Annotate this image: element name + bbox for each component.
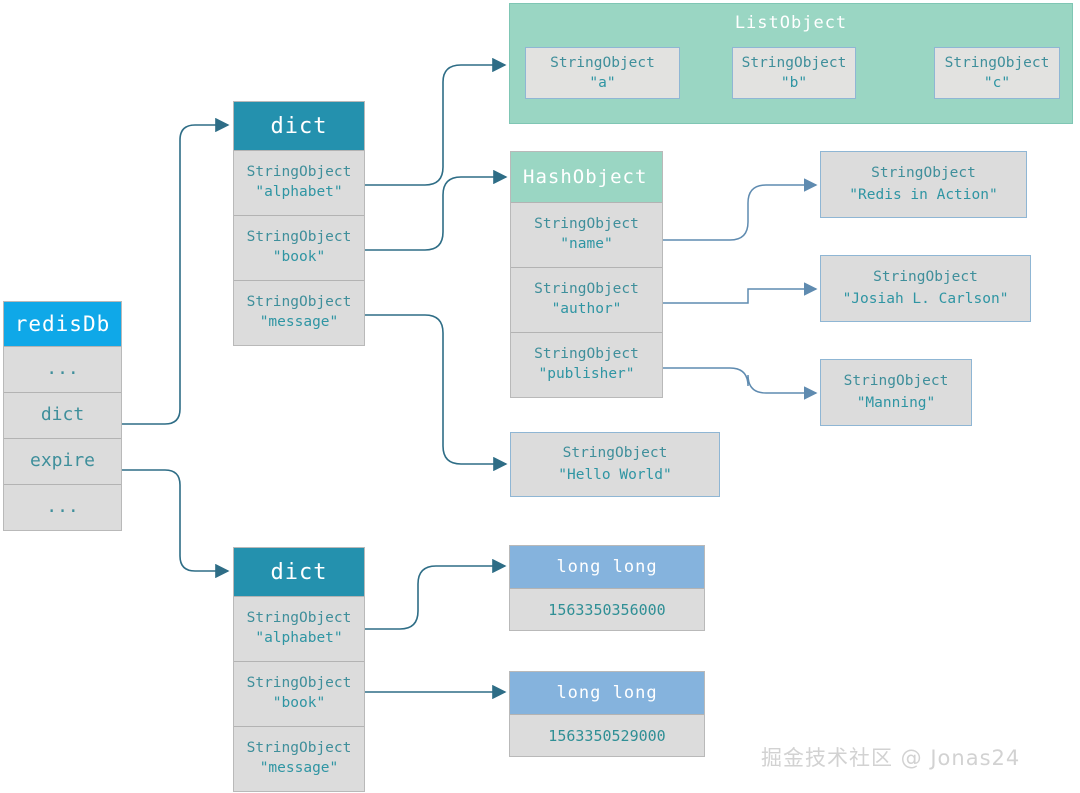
dict-expire-row-message-type: StringObject xyxy=(247,739,352,759)
hashobject-row-author-value: "author" xyxy=(552,300,622,320)
hashobject-row-author[interactable]: StringObject "author" xyxy=(511,267,662,332)
listobject-item-b[interactable]: StringObject "b" xyxy=(732,47,856,99)
dict-main-row-alphabet-type: StringObject xyxy=(247,163,352,183)
hashobject-row-publisher[interactable]: StringObject "publisher" xyxy=(511,332,662,397)
listobject-item-c-value: "c" xyxy=(984,73,1010,93)
redisdb-struct[interactable]: redisDb ... dict expire ... xyxy=(3,301,122,531)
listobject-item-a-type: StringObject xyxy=(550,53,655,73)
dict-main-row-message-value: "message" xyxy=(260,313,339,333)
listobject-item-a[interactable]: StringObject "a" xyxy=(525,47,680,99)
edge-author-person xyxy=(663,289,816,303)
listobject-item-c-type: StringObject xyxy=(945,53,1050,73)
listobject-item-b-value: "b" xyxy=(781,73,807,93)
dict-main-struct[interactable]: dict StringObject "alphabet" StringObjec… xyxy=(233,101,365,346)
dict-expire-row-book-type: StringObject xyxy=(247,674,352,694)
stringobject-book-author-value: "Josiah L. Carlson" xyxy=(843,289,1009,311)
listobject-item-b-type: StringObject xyxy=(742,53,847,73)
hashobject-row-publisher-value: "publisher" xyxy=(538,365,634,385)
listobject-container[interactable]: ListObject StringObject "a" StringObject… xyxy=(509,3,1073,124)
redisdb-row-ellipsis-top[interactable]: ... xyxy=(4,346,121,392)
edge-expire-alphabet-ll1 xyxy=(365,566,505,629)
stringobject-hello-world-type: StringObject xyxy=(563,443,668,465)
redisdb-row-expire[interactable]: expire xyxy=(4,438,121,484)
longlong-box-book-header: long long xyxy=(510,672,704,714)
edge-name-title xyxy=(663,185,816,240)
edge-book-hashobject xyxy=(365,177,506,250)
listobject-title: ListObject xyxy=(510,13,1072,33)
dict-expire-row-message-value: "message" xyxy=(260,759,339,779)
hashobject-row-publisher-type: StringObject xyxy=(534,345,639,365)
stringobject-book-publisher-type: StringObject xyxy=(844,371,949,393)
longlong-box-alphabet-header: long long xyxy=(510,546,704,588)
longlong-box-book[interactable]: long long 1563350529000 xyxy=(509,671,705,757)
dict-expire-struct[interactable]: dict StringObject "alphabet" StringObjec… xyxy=(233,547,365,792)
listobject-item-a-value: "a" xyxy=(589,73,615,93)
dict-expire-row-message[interactable]: StringObject "message" xyxy=(234,726,364,791)
dict-expire-row-alphabet[interactable]: StringObject "alphabet" xyxy=(234,596,364,661)
hashobject-header: HashObject xyxy=(511,152,662,202)
dict-expire-header: dict xyxy=(234,548,364,596)
stringobject-book-title-type: StringObject xyxy=(871,163,976,185)
dict-main-row-alphabet-value: "alphabet" xyxy=(255,183,342,203)
dict-main-row-book-type: StringObject xyxy=(247,228,352,248)
edge-alphabet-listobject xyxy=(365,65,505,185)
diagram-canvas: redisDb ... dict expire ... dict StringO… xyxy=(0,0,1080,793)
longlong-box-book-value: 1563350529000 xyxy=(510,714,704,756)
stringobject-book-publisher[interactable]: StringObject "Manning" xyxy=(820,359,972,426)
redisdb-row-dict[interactable]: dict xyxy=(4,392,121,438)
hashobject-row-name-type: StringObject xyxy=(534,215,639,235)
edge-redisdb-expire xyxy=(122,470,228,571)
dict-expire-row-book[interactable]: StringObject "book" xyxy=(234,661,364,726)
edge-redisdb-dict xyxy=(122,125,228,424)
dict-main-header: dict xyxy=(234,102,364,150)
redisdb-header: redisDb xyxy=(4,302,121,346)
stringobject-book-author-type: StringObject xyxy=(873,267,978,289)
stringobject-book-author[interactable]: StringObject "Josiah L. Carlson" xyxy=(820,255,1031,322)
dict-main-row-book-value: "book" xyxy=(273,248,325,268)
hashobject-row-name-value: "name" xyxy=(560,235,612,255)
dict-main-row-book[interactable]: StringObject "book" xyxy=(234,215,364,280)
stringobject-book-title-value: "Redis in Action" xyxy=(849,185,997,207)
redisdb-row-ellipsis-bottom[interactable]: ... xyxy=(4,484,121,530)
dict-main-row-alphabet[interactable]: StringObject "alphabet" xyxy=(234,150,364,215)
listobject-item-c[interactable]: StringObject "c" xyxy=(934,47,1060,99)
dict-main-row-message-type: StringObject xyxy=(247,293,352,313)
edge-message-hello xyxy=(365,315,506,464)
hashobject-row-name[interactable]: StringObject "name" xyxy=(511,202,662,267)
stringobject-hello-world[interactable]: StringObject "Hello World" xyxy=(510,432,720,497)
watermark-text: 掘金技术社区 @ Jonas24 xyxy=(761,742,1020,772)
dict-expire-row-book-value: "book" xyxy=(273,694,325,714)
dict-expire-row-alphabet-value: "alphabet" xyxy=(255,629,342,649)
hashobject-struct[interactable]: HashObject StringObject "name" StringObj… xyxy=(510,151,663,398)
stringobject-book-publisher-value: "Manning" xyxy=(857,393,936,415)
edge-publisher-manning xyxy=(663,368,816,393)
stringobject-hello-world-value: "Hello World" xyxy=(558,465,672,487)
dict-main-row-message[interactable]: StringObject "message" xyxy=(234,280,364,345)
longlong-box-alphabet[interactable]: long long 1563350356000 xyxy=(509,545,705,631)
hashobject-row-author-type: StringObject xyxy=(534,280,639,300)
dict-expire-row-alphabet-type: StringObject xyxy=(247,609,352,629)
stringobject-book-title[interactable]: StringObject "Redis in Action" xyxy=(820,151,1027,218)
longlong-box-alphabet-value: 1563350356000 xyxy=(510,588,704,630)
